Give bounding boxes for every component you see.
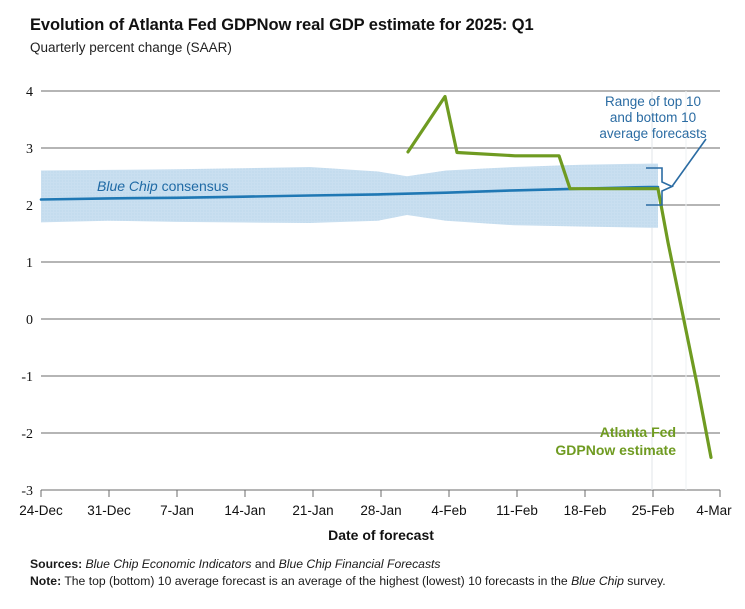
xtick-21-jan: 21-Jan (292, 503, 333, 518)
xtick-31-dec: 31-Dec (87, 503, 131, 518)
svg-text:Blue Chip consensus: Blue Chip consensus (97, 178, 229, 194)
y-axis: 4 3 2 1 0 -1 -2 -3 (21, 85, 33, 499)
x-axis-ticks (41, 490, 720, 497)
gdpnow-annotation-text: Atlanta Fed GDPNow estimate (555, 424, 676, 458)
bluechip-consensus-label: Blue Chip consensus (97, 178, 229, 194)
ytick-2: 2 (26, 199, 33, 214)
footnote-sources: Sources: Blue Chip Economic Indicators a… (30, 556, 730, 572)
ytick-4: 4 (26, 85, 33, 100)
gdpnow-estimate-line (408, 97, 711, 458)
range-anno-line1: Range of top 10 (605, 94, 701, 109)
range-anno-line3: average forecasts (599, 126, 707, 141)
ytick-n3: -3 (21, 484, 33, 499)
xtick-14-jan: 14-Jan (224, 503, 265, 518)
note-text-2: survey. (624, 574, 666, 588)
note-italic: Blue Chip (571, 574, 624, 588)
range-anno-line2: and bottom 10 (610, 110, 696, 125)
gdpnow-chart: Evolution of Atlanta Fed GDPNow real GDP… (0, 0, 745, 609)
ytick-0: 0 (26, 313, 33, 328)
xtick-24-dec: 24-Dec (19, 503, 63, 518)
xtick-11-feb: 11-Feb (496, 503, 538, 518)
note-label: Note: (30, 574, 61, 588)
xtick-4-feb: 4-Feb (431, 503, 466, 518)
xtick-25-feb: 25-Feb (632, 503, 675, 518)
xtick-18-feb: 18-Feb (564, 503, 607, 518)
xtick-7-jan: 7-Jan (160, 503, 194, 518)
footnote-note: Note: The top (bottom) 10 average foreca… (30, 573, 730, 589)
bluechip-label-italic: Blue Chip (97, 178, 158, 194)
sources-label: Sources: (30, 557, 82, 571)
xtick-28-jan: 28-Jan (360, 503, 401, 518)
ytick-n1: -1 (21, 370, 33, 385)
sources-italic-1: Blue Chip Economic Indicators (86, 557, 252, 571)
xtick-4-mar: 4-Mar (696, 503, 732, 518)
gdpnow-anno-line2: GDPNow estimate (555, 442, 676, 458)
sources-mid: and (252, 557, 279, 571)
range-annotation-text: Range of top 10 and bottom 10 average fo… (599, 94, 707, 141)
sources-italic-2: Blue Chip Financial Forecasts (279, 557, 441, 571)
plot-area: Range of top 10 and bottom 10 average fo… (0, 0, 745, 545)
ytick-1: 1 (26, 256, 33, 271)
note-text-1: The top (bottom) 10 average forecast is … (61, 574, 571, 588)
ytick-3: 3 (26, 142, 33, 157)
footnotes: Sources: Blue Chip Economic Indicators a… (30, 556, 730, 590)
gdpnow-anno-line1: Atlanta Fed (600, 424, 676, 440)
bluechip-label-rest: consensus (158, 178, 229, 194)
x-axis-labels: 24-Dec 31-Dec 7-Jan 14-Jan 21-Jan 28-Jan… (19, 503, 732, 518)
x-axis-title: Date of forecast (328, 527, 434, 543)
ytick-n2: -2 (21, 427, 33, 442)
